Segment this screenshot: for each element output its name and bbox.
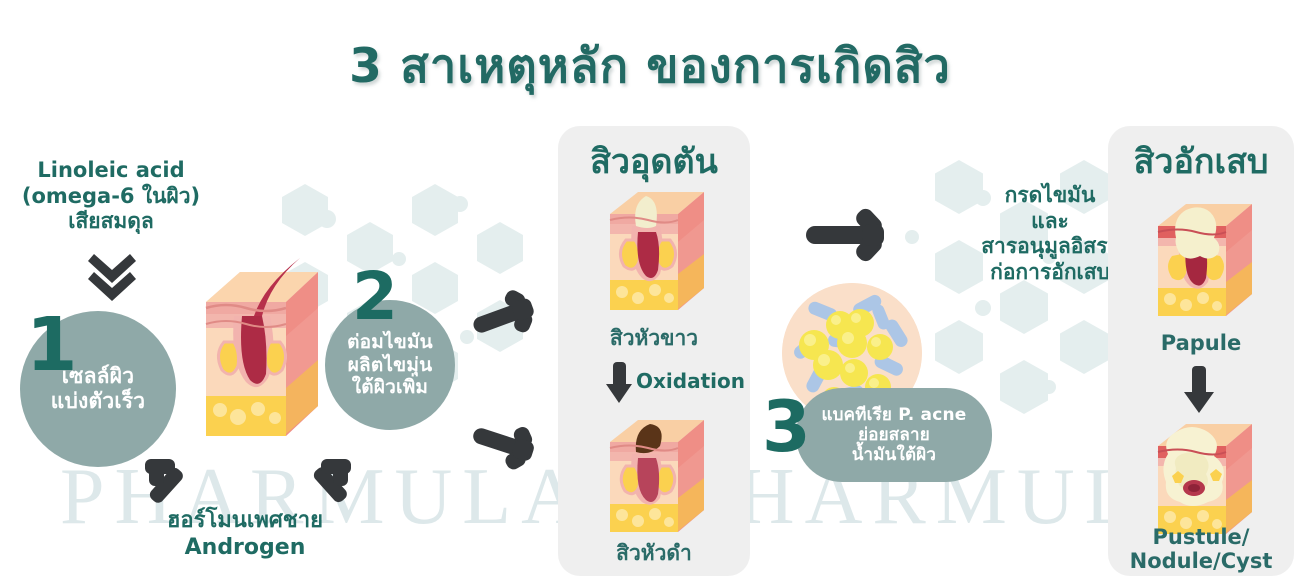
double-chevron-down-icon (84, 248, 140, 302)
step-1-line-2: แบ่งตัวเร็ว (51, 389, 145, 414)
linoleic-acid-text: Linoleic acid (omega-6 ในผิว) เสียสมดุล (0, 158, 222, 235)
arrow-up-left-icon (143, 457, 201, 509)
oxidation-label: Oxidation (636, 369, 746, 393)
step-3-text: แบคทีเรีย P. acne ย่อยสลาย น้ำมันใต้ผิว (821, 405, 966, 465)
arrow-up-right-icon (297, 457, 355, 509)
linoleic-line-1: Linoleic acid (0, 158, 222, 184)
arrow-right-icon (802, 198, 906, 270)
step-3-line-2: ย่อยสลาย (821, 425, 966, 445)
papule-skin-diagram (1142, 196, 1260, 328)
whitehead-skin-diagram (592, 182, 712, 327)
androgen-line-2: Androgen (110, 535, 380, 562)
arrow-up-right-to-whitehead-icon (468, 288, 542, 344)
step-3-line-1: แบคทีเรีย P. acne (821, 405, 966, 425)
blackhead-label: สิวหัวดำ (558, 541, 750, 565)
infographic-root: PHARMULAR PHARMULAR 3 สาเหตุหลัก ของการเ… (0, 0, 1300, 584)
normal-skin-follicle-diagram (178, 256, 328, 464)
pustule-label-line-1: Pustule/ (1108, 525, 1294, 549)
whitehead-label: สิวหัวขาว (558, 326, 750, 350)
clogged-acne-heading: สิวอุดตัน (558, 134, 750, 188)
step-3-number: 3 (762, 392, 811, 462)
step-2-line-3: ใต้ผิวเพิ่ม (347, 376, 433, 398)
arrow-down-right-to-blackhead-icon (468, 416, 542, 472)
step-2-line-2: ผลิตไขมุ่น (347, 354, 433, 376)
step-1-number: 1 (26, 308, 78, 382)
papule-label: Papule (1108, 331, 1294, 355)
pustule-label-line-2: Nodule/Cyst (1108, 549, 1294, 573)
step-3-circle: แบคทีเรีย P. acne ย่อยสลาย น้ำมันใต้ผิว (796, 388, 992, 482)
arrow-down-to-pustule-icon (1182, 366, 1216, 414)
pustule-nodule-cyst-label: Pustule/ Nodule/Cyst (1108, 525, 1294, 573)
step-2-number: 2 (352, 264, 398, 330)
step-3-line-3: น้ำมันใต้ผิว (821, 445, 966, 465)
inflamed-acne-heading: สิวอักเสบ (1108, 134, 1294, 188)
page-title: 3 สาเหตุหลัก ของการเกิดสิว (0, 28, 1300, 103)
blackhead-skin-diagram (594, 412, 712, 544)
linoleic-line-2: (omega-6 ในผิว) (0, 184, 222, 210)
androgen-line-1: ฮอร์โมนเพศชาย (110, 508, 380, 535)
androgen-text: ฮอร์โมนเพศชาย Androgen (110, 508, 380, 562)
step-2-text: ต่อมไขมัน ผลิตไขมุ่น ใต้ผิวเพิ่ม (347, 331, 433, 398)
arrow-down-icon (604, 362, 634, 404)
linoleic-line-3: เสียสมดุล (0, 209, 222, 235)
